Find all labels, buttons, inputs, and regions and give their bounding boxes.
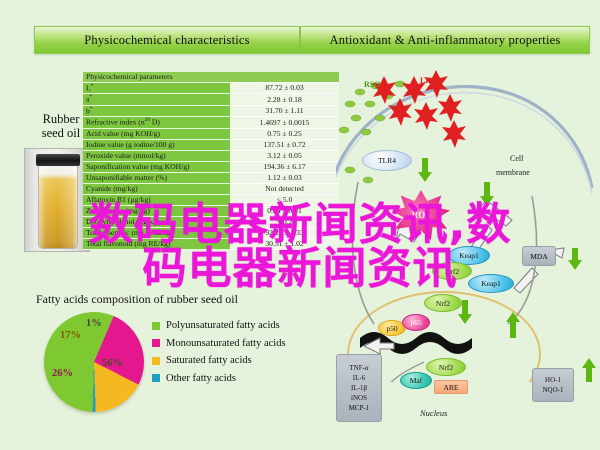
node-are: ARE [434,380,468,394]
banner-antioxidant: Antioxidant & Anti-inflammatory properti… [300,26,590,54]
legend-item: Polyunsaturated fatty acids [152,320,286,331]
cytokine-label: iNOS [351,393,367,403]
table-cell-value: 1.12 ± 0.03 [230,172,339,183]
table-cell-value: 2.28 ± 0.18 [230,94,339,106]
rso-label: RSO [364,80,380,89]
table-row: a*2.28 ± 0.18 [83,94,339,106]
legend-item: Other fatty acids [152,373,286,384]
enzyme-label: HO-1 [545,375,561,385]
legend-item: Monounsaturated fatty acids [152,338,286,349]
node-nrf2-b: Nrf2 [424,294,462,312]
table-cell-value: 1.4697 ± 0.0015 [230,117,339,129]
table-cell-parameter: Unsaponifiable matter (%) [83,172,230,183]
table-cell-value: 0.75 ± 0.25 [230,128,339,139]
cytokine-label: TNF-α [349,363,368,373]
table-row: Refractive index (n20 D)1.4697 ± 0.0015 [83,117,339,129]
table-cell-value: 194.36 ± 6.17 [230,161,339,172]
table-row: Unsaponifiable matter (%)1.12 ± 0.03 [83,172,339,183]
pie-slice-label-polyunsaturated: 56% [102,358,123,369]
node-maf: Maf [400,372,432,389]
table-cell-parameter: Iodine value (g iodine/100 g) [83,139,230,150]
nucleus-label: Nucleus [420,408,447,418]
lps-label: LPS [420,76,435,85]
table-cell-value: 31.70 ± 1.11 [230,105,339,117]
table-cell-value: 3.12 ± 0.05 [230,150,339,161]
table-cell-parameter: Refractive index (n20 D) [83,117,230,129]
cytokine-label: MCP-1 [349,403,370,413]
table-row: Saponification value (mg KOH/g)194.36 ± … [83,161,339,172]
legend-swatch [152,357,160,365]
table-cell-parameter: L* [83,82,230,94]
cytokine-label: IL-1β [351,383,367,393]
table-cell-value: 137.51 ± 0.72 [230,139,339,150]
legend-label: Polyunsaturated fatty acids [166,320,280,331]
banner-right-label: Antioxidant & Anti-inflammatory properti… [330,33,561,48]
legend-swatch [152,339,160,347]
node-tlr4: TLR4 [362,150,412,171]
legend-swatch [152,374,160,382]
cell-membrane-label-line2: membrane [496,168,530,177]
table-cell-value: 87.72 ± 0.03 [230,82,339,94]
pie-slice-label-monounsaturated: 26% [52,368,73,379]
table-row: b*31.70 ± 1.11 [83,105,339,117]
table-cell-parameter: Peroxide value (mmol/kg) [83,150,230,161]
legend-item: Saturated fatty acids [152,355,286,366]
node-nrf2-c: Nrf2 [426,358,466,376]
cytokine-label: IL-6 [353,373,365,383]
table-row: Peroxide value (mmol/kg)3.12 ± 0.05 [83,150,339,161]
table-row: Iodine value (g iodine/100 g)137.51 ± 0.… [83,139,339,150]
legend-label: Monounsaturated fatty acids [166,338,286,349]
legend-label: Saturated fatty acids [166,355,252,366]
table-cell-parameter: Acid value (mg KOH/g) [83,128,230,139]
legend-swatch [152,322,160,330]
table-row: Acid value (mg KOH/g)0.75 ± 0.25 [83,128,339,139]
bottle-cap [36,154,80,166]
table-cell-parameter: b* [83,105,230,117]
table-cell-parameter: a* [83,94,230,106]
table-header-row: Physicochemical parameters [83,72,339,82]
legend-label: Other fatty acids [166,373,236,384]
pie-slice-label-other: 1% [86,318,102,329]
cell-membrane-arc-inner [336,93,592,196]
cytokine-box: TNF-αIL-6IL-1βiNOSMCP-1 [336,354,382,422]
table-header-key: Physicochemical parameters [83,72,230,82]
banner-physicochemical: Physicochemical characteristics [34,26,300,54]
pie-chart: 56% 26% 17% 1% [44,312,148,416]
watermark-line-2: 码电器新闻资讯 [0,232,600,296]
infographic-canvas: Physicochemical characteristics Antioxid… [0,0,600,450]
node-p65: p65 [402,314,430,331]
pie-chart-legend: Polyunsaturated fatty acidsMonounsaturat… [152,320,286,390]
enzyme-label: NQO-1 [543,385,564,395]
enzyme-box: HO-1NQO-1 [532,368,574,402]
banner-left-label: Physicochemical characteristics [84,33,250,48]
table-row: L*87.72 ± 0.03 [83,82,339,94]
pie-slice-label-saturated: 17% [60,330,81,341]
table-header-value [230,72,339,82]
table-cell-parameter: Saponification value (mg KOH/g) [83,161,230,172]
cell-membrane-label-line1: Cell [510,154,523,163]
